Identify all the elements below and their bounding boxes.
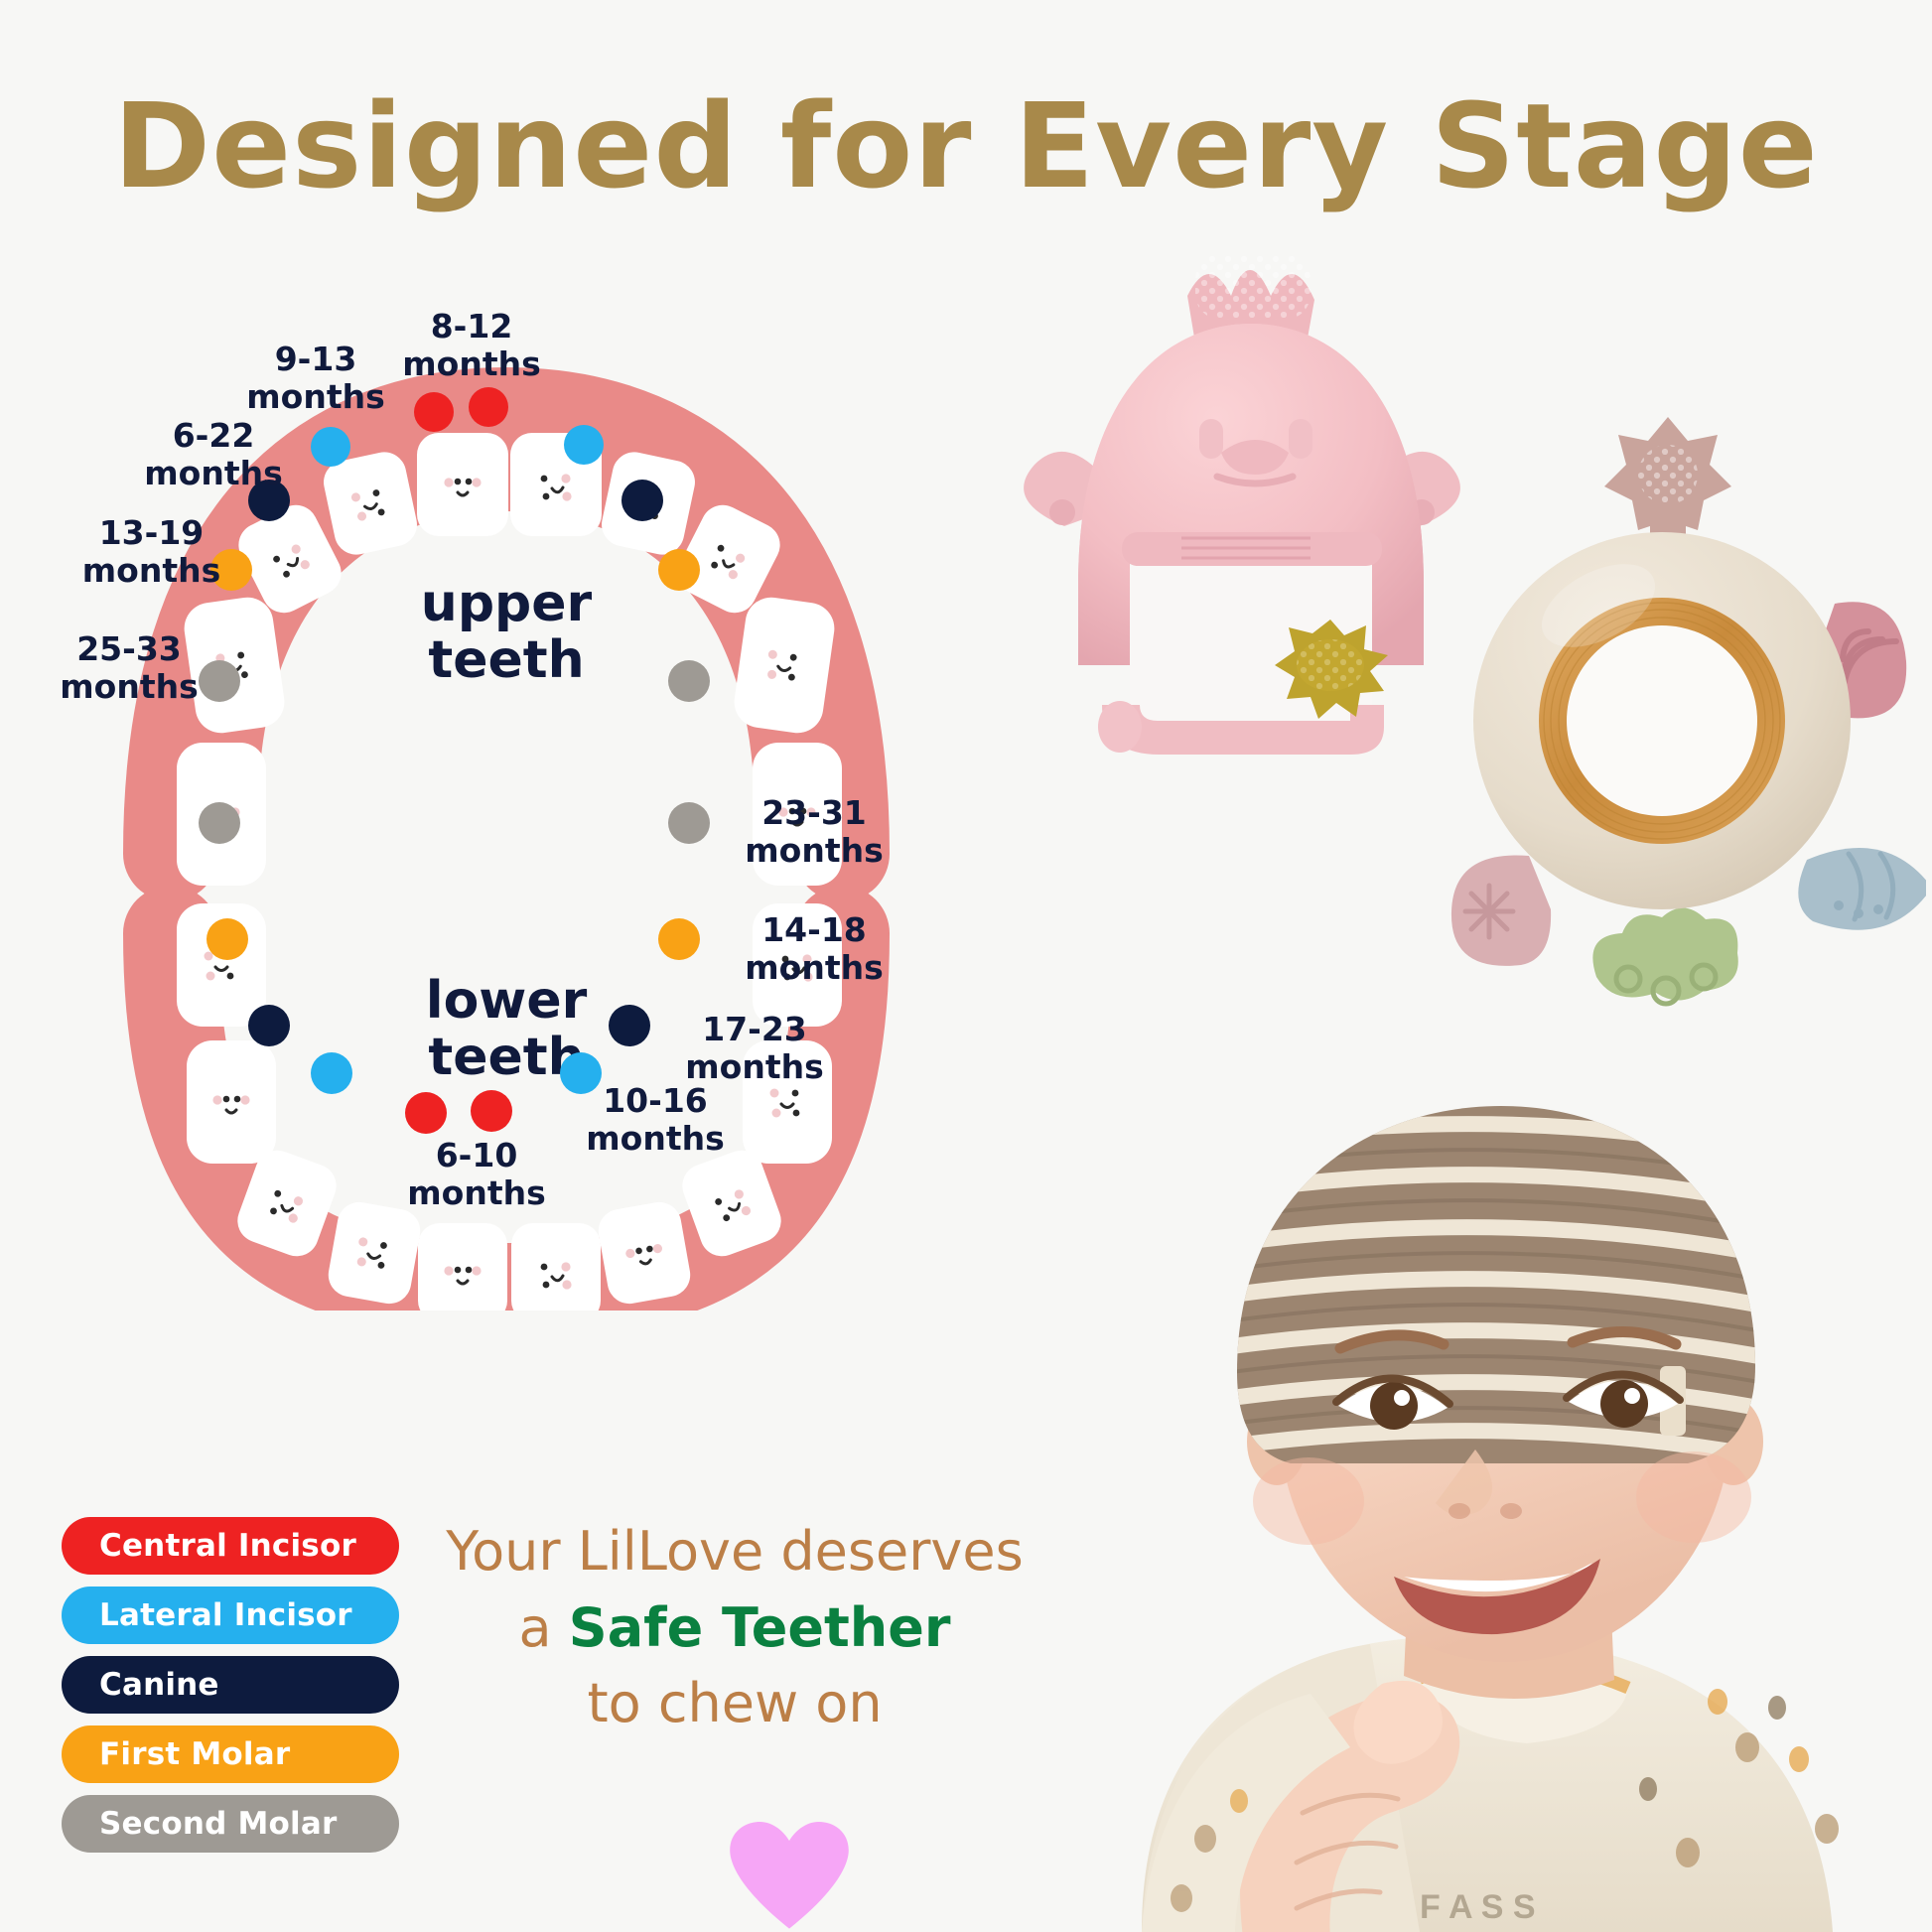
dot-lateral-incisor-upper-left — [311, 427, 350, 467]
legend-item-lateral-incisor[interactable]: Lateral Incisor — [62, 1587, 399, 1644]
tagline-line-2-prefix: a — [519, 1596, 569, 1659]
legend-label: Central Incisor — [99, 1528, 356, 1564]
upper-teeth-label: upper teeth — [377, 576, 635, 689]
svg-text:F A S S: F A S S — [1420, 1888, 1536, 1926]
legend-item-central-incisor[interactable]: Central Incisor — [62, 1517, 399, 1575]
label-23-31-months: 23-31 months — [715, 794, 913, 870]
dot-first-molar-upper-right — [658, 549, 700, 591]
dot-central-incisor-upper-left — [414, 392, 454, 432]
legend-label: Canine — [99, 1667, 219, 1703]
blue-leaf-nub-icon — [1798, 848, 1926, 930]
tagline-line-1: Your LilLove deserves — [427, 1514, 1042, 1590]
tagline-line-3: to chew on — [427, 1666, 1042, 1742]
label-25-33-months: 25-33 months — [30, 630, 228, 706]
legend-label: Lateral Incisor — [99, 1597, 352, 1633]
baby-photo: F A S S — [993, 1052, 1932, 1932]
tagline-highlight: Safe Teether — [569, 1596, 951, 1659]
page-title: Designed for Every Stage — [0, 77, 1932, 214]
legend-label: Second Molar — [99, 1806, 337, 1842]
legend-label: First Molar — [99, 1736, 290, 1772]
legend-item-first-molar[interactable]: First Molar — [62, 1725, 399, 1783]
dot-first-molar-lower-right — [658, 918, 700, 960]
tagline-line-2: a Safe Teether — [427, 1590, 1042, 1667]
label-17-23-months: 17-23 months — [655, 1011, 854, 1086]
teeth-eruption-chart: upper teeth lower teeth 8-12 months 9-13… — [60, 298, 953, 1311]
dot-central-incisor-lower-right — [471, 1090, 512, 1132]
dot-canine-lower-left — [248, 1005, 290, 1046]
label-9-13-months: 9-13 months — [221, 341, 410, 416]
dot-central-incisor-upper-right — [469, 387, 508, 427]
tooth-type-legend: Central Incisor Lateral Incisor Canine F… — [62, 1517, 399, 1864]
marketing-tagline: Your LilLove deserves a Safe Teether to … — [427, 1514, 1042, 1742]
label-10-16-months: 10-16 months — [556, 1082, 755, 1158]
legend-item-second-molar[interactable]: Second Molar — [62, 1795, 399, 1853]
label-14-18-months: 14-18 months — [715, 911, 913, 987]
label-6-22-months: 6-22 months — [119, 417, 308, 492]
heart-icon — [730, 1822, 849, 1931]
snowflake-nub-icon — [1451, 855, 1551, 965]
dot-canine-upper-right — [621, 480, 663, 521]
dot-second-molar-lower-right — [668, 802, 710, 844]
label-6-10-months: 6-10 months — [377, 1137, 576, 1212]
dot-central-incisor-lower-left — [405, 1092, 447, 1134]
dot-lateral-incisor-upper-right — [564, 425, 604, 465]
dot-first-molar-lower-left — [207, 918, 248, 960]
green-cloud-nub-icon — [1592, 907, 1737, 1004]
infographic-page: Designed for Every Stage — [0, 0, 1932, 1932]
dot-second-molar-upper-right — [668, 660, 710, 702]
label-13-19-months: 13-19 months — [55, 514, 248, 590]
dot-second-molar-lower-left — [199, 802, 240, 844]
dot-canine-lower-right — [609, 1005, 650, 1046]
legend-item-canine[interactable]: Canine — [62, 1656, 399, 1714]
mitten-teether-icon — [1024, 254, 1460, 755]
teether-products-illustration — [953, 238, 1926, 1072]
ring-teether-icon — [1451, 417, 1926, 1004]
dot-lateral-incisor-lower-left — [311, 1052, 352, 1094]
